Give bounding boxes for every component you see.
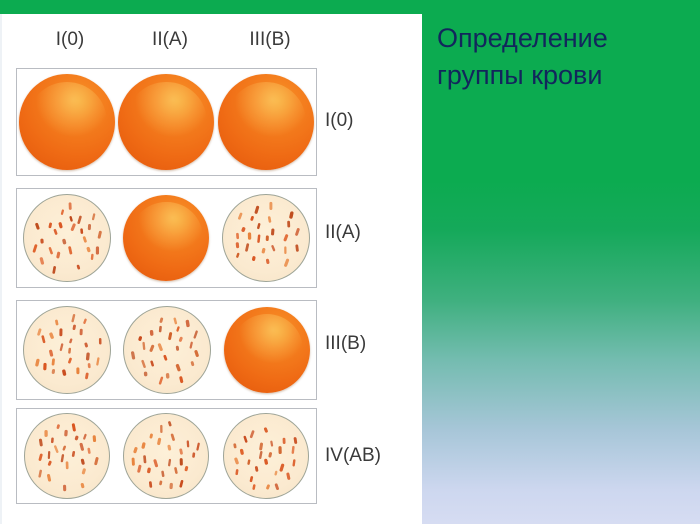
row-label-2: II(A) [325, 222, 420, 244]
table-row [16, 188, 317, 288]
blood-sample-no-agglutination [224, 307, 310, 393]
blood-sample-agglutinated [123, 413, 209, 499]
blood-sample-no-agglutination [19, 74, 115, 170]
agglutination-pattern [223, 195, 309, 281]
top-green-strip [0, 0, 420, 14]
column-header-3: III(B) [220, 29, 320, 51]
blood-sample-agglutinated [24, 413, 110, 499]
blood-sample-agglutinated [123, 306, 211, 394]
agglutination-pattern [24, 195, 110, 281]
slide: Определение группы крови I(0) II(A) III(… [0, 0, 700, 524]
row-label-4: IV(AB) [325, 445, 420, 467]
blood-sample-agglutinated [23, 194, 111, 282]
column-header-2: II(A) [120, 29, 220, 51]
agglutination-pattern [24, 307, 110, 393]
blood-sample-agglutinated [23, 306, 111, 394]
agglutination-pattern [25, 414, 109, 498]
row-label-1: I(0) [325, 110, 420, 132]
blood-sample-no-agglutination [218, 74, 314, 170]
table-row [16, 68, 317, 176]
agglutination-pattern [124, 414, 208, 498]
slide-title: Определение группы крови [437, 20, 687, 94]
agglutination-pattern [124, 307, 210, 393]
column-header-1: I(0) [20, 29, 120, 51]
agglutination-pattern [224, 414, 308, 498]
blood-sample-no-agglutination [118, 74, 214, 170]
table-row [16, 408, 317, 504]
blood-sample-agglutinated [223, 413, 309, 499]
blood-sample-no-agglutination [123, 195, 209, 281]
row-label-3: III(B) [325, 333, 420, 355]
blood-sample-agglutinated [222, 194, 310, 282]
table-row [16, 300, 317, 400]
